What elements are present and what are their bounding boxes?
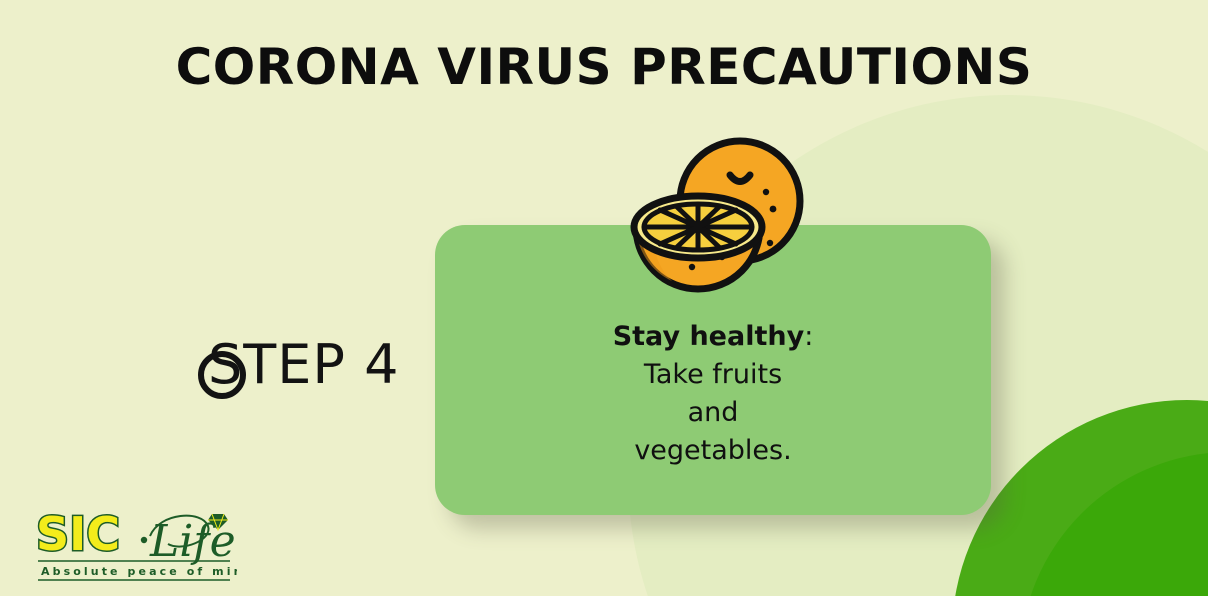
advice-line-1: Take fruits [435,356,991,394]
svg-text:SIC: SIC [36,507,120,561]
poster-canvas: CORONA VIRUS PRECAUTIONS STEP 4 Stay hea… [0,0,1208,596]
advice-card-text: Stay healthy: Take fruits and vegetables… [435,318,991,470]
advice-heading-colon: : [804,321,813,352]
orange-fruit-icon [618,133,818,298]
advice-heading: Stay healthy [613,321,804,352]
sic-life-logo: SIC Life Absolute peace of mind [32,500,237,584]
advice-heading-line: Stay healthy: [435,318,991,356]
svg-text:Absolute peace of mind: Absolute peace of mind [41,565,237,578]
advice-line-3: vegetables. [435,432,991,470]
step-label-group: STEP 4 [196,325,436,415]
advice-line-2: and [435,394,991,432]
step-label: STEP 4 [208,333,399,396]
page-title: CORONA VIRUS PRECAUTIONS [0,38,1208,96]
